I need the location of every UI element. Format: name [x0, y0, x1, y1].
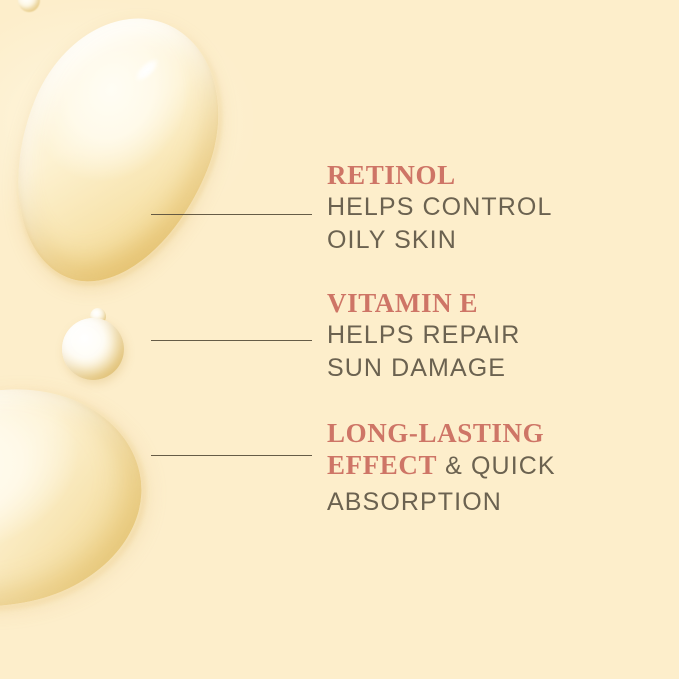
- benefit-body-line: HELPS CONTROL: [327, 191, 653, 224]
- benefit-body-inline: & QUICK: [437, 452, 556, 480]
- benefit-headline-body-mixed-line: EFFECT & QUICK: [327, 449, 653, 486]
- callout-text-block: VITAMIN E HELPS REPAIR SUN DAMAGE: [327, 288, 653, 385]
- product-benefits-poster: RETINOL HELPS CONTROL OILY SKIN VITAMIN …: [0, 0, 679, 679]
- benefit-callout-list: RETINOL HELPS CONTROL OILY SKIN VITAMIN …: [0, 0, 679, 679]
- callout-connector-line: [151, 455, 312, 456]
- benefit-headline: VITAMIN E: [327, 288, 653, 319]
- benefit-body-line: SUN DAMAGE: [327, 352, 653, 385]
- benefit-headline: LONG-LASTING: [327, 418, 653, 449]
- callout-connector-line: [151, 340, 312, 341]
- callout-text-block: LONG-LASTING EFFECT & QUICK ABSORPTION: [327, 418, 653, 519]
- callout-connector-line: [151, 214, 312, 215]
- benefit-body-line: ABSORPTION: [327, 486, 653, 519]
- benefit-headline-continued: EFFECT: [327, 450, 437, 480]
- benefit-body-line: HELPS REPAIR: [327, 319, 653, 352]
- callout-text-block: RETINOL HELPS CONTROL OILY SKIN: [327, 160, 653, 257]
- benefit-headline: RETINOL: [327, 160, 653, 191]
- benefit-body-line: OILY SKIN: [327, 224, 653, 257]
